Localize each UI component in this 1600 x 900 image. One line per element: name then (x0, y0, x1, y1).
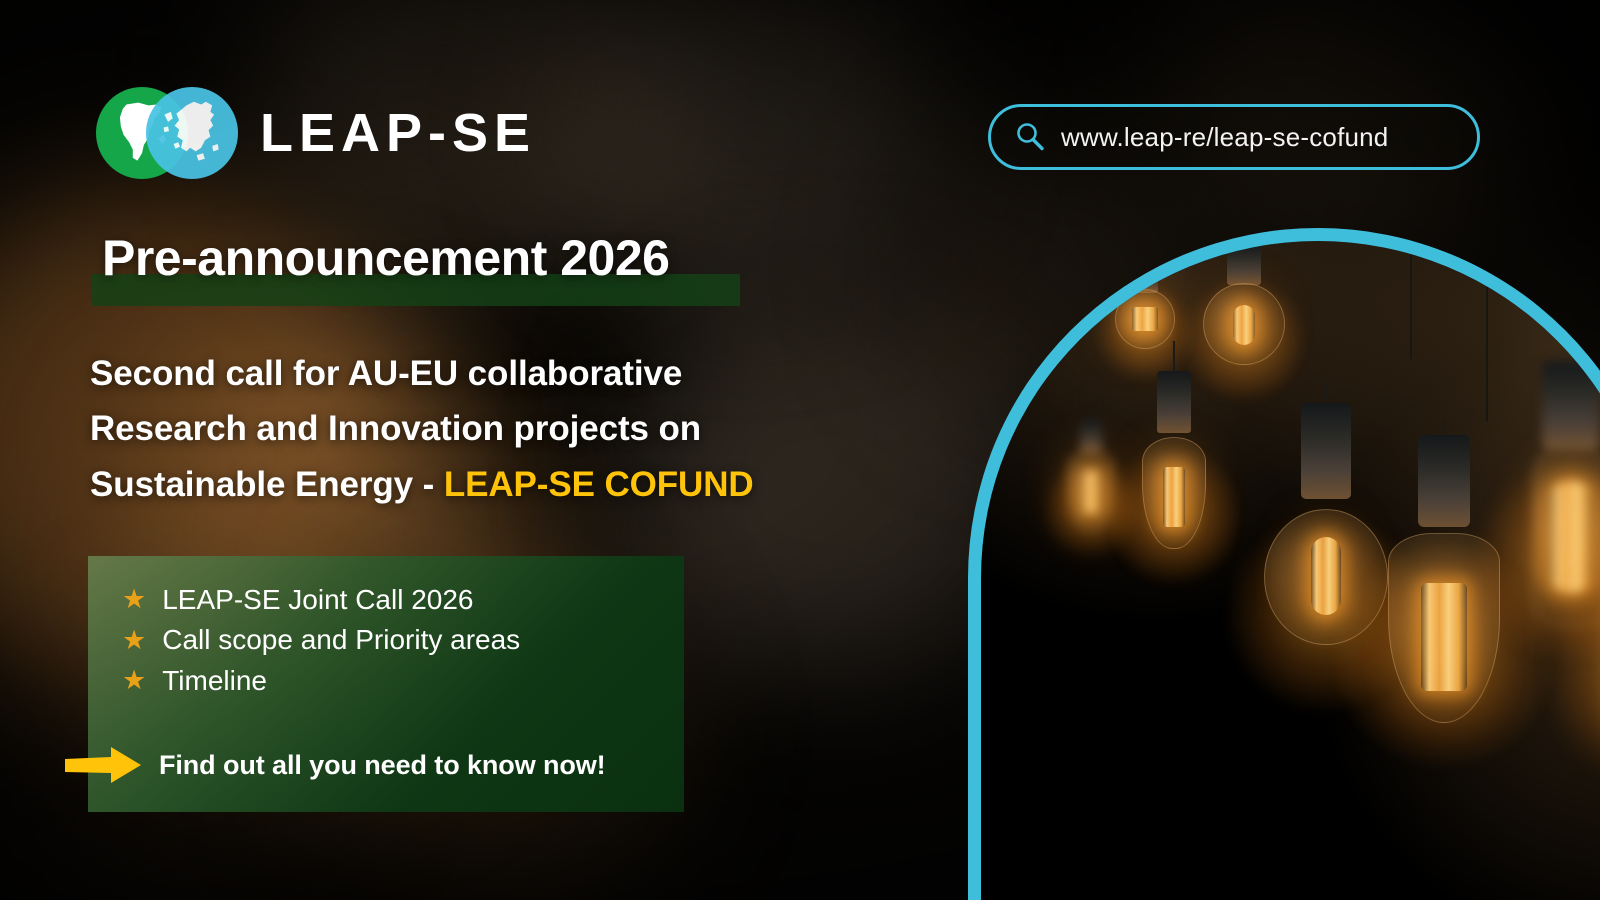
brand-name: LEAP-SE (260, 106, 536, 160)
page-title: Pre-announcement 2026 (92, 232, 679, 285)
url-search-bar[interactable]: www.leap-re/leap-se-cofund (988, 104, 1480, 170)
cta-label: Find out all you need to know now! (159, 750, 606, 781)
star-icon: ★ (122, 667, 146, 694)
list-item-label: Timeline (162, 665, 267, 696)
europe-circle-icon (146, 87, 238, 179)
list-item-label: LEAP-SE Joint Call 2026 (162, 584, 473, 615)
call-to-action[interactable]: Find out all you need to know now! (63, 744, 606, 786)
arrow-right-icon (63, 744, 143, 786)
subheading: Second call for AU-EU collaborative Rese… (90, 346, 850, 512)
list-item[interactable]: ★ Timeline (122, 665, 684, 696)
highlights-panel: ★ LEAP-SE Joint Call 2026 ★ Call scope a… (88, 556, 684, 812)
search-icon (1013, 120, 1047, 154)
brand-logo[interactable]: LEAP-SE (96, 84, 536, 182)
highlights-list: ★ LEAP-SE Joint Call 2026 ★ Call scope a… (88, 556, 684, 696)
bulb-artwork-arch (968, 228, 1600, 900)
promo-banner: LEAP-SE www.leap-re/leap-se-cofund Pre-a… (0, 0, 1600, 900)
headline-block: Pre-announcement 2026 (92, 232, 679, 285)
subheading-line-2: Research and Innovation projects on (90, 401, 850, 456)
subheading-line-3: Sustainable Energy - LEAP-SE COFUND (90, 457, 850, 512)
list-item[interactable]: ★ LEAP-SE Joint Call 2026 (122, 584, 684, 615)
list-item-label: Call scope and Priority areas (162, 624, 520, 655)
subheading-line-3-prefix: Sustainable Energy - (90, 465, 444, 504)
subheading-accent: LEAP-SE COFUND (444, 465, 754, 504)
star-icon: ★ (122, 627, 146, 654)
star-icon: ★ (122, 586, 146, 613)
subheading-line-1: Second call for AU-EU collaborative (90, 346, 850, 401)
logo-circles (96, 84, 238, 182)
list-item[interactable]: ★ Call scope and Priority areas (122, 624, 684, 655)
search-url-text: www.leap-re/leap-se-cofund (1061, 122, 1388, 153)
